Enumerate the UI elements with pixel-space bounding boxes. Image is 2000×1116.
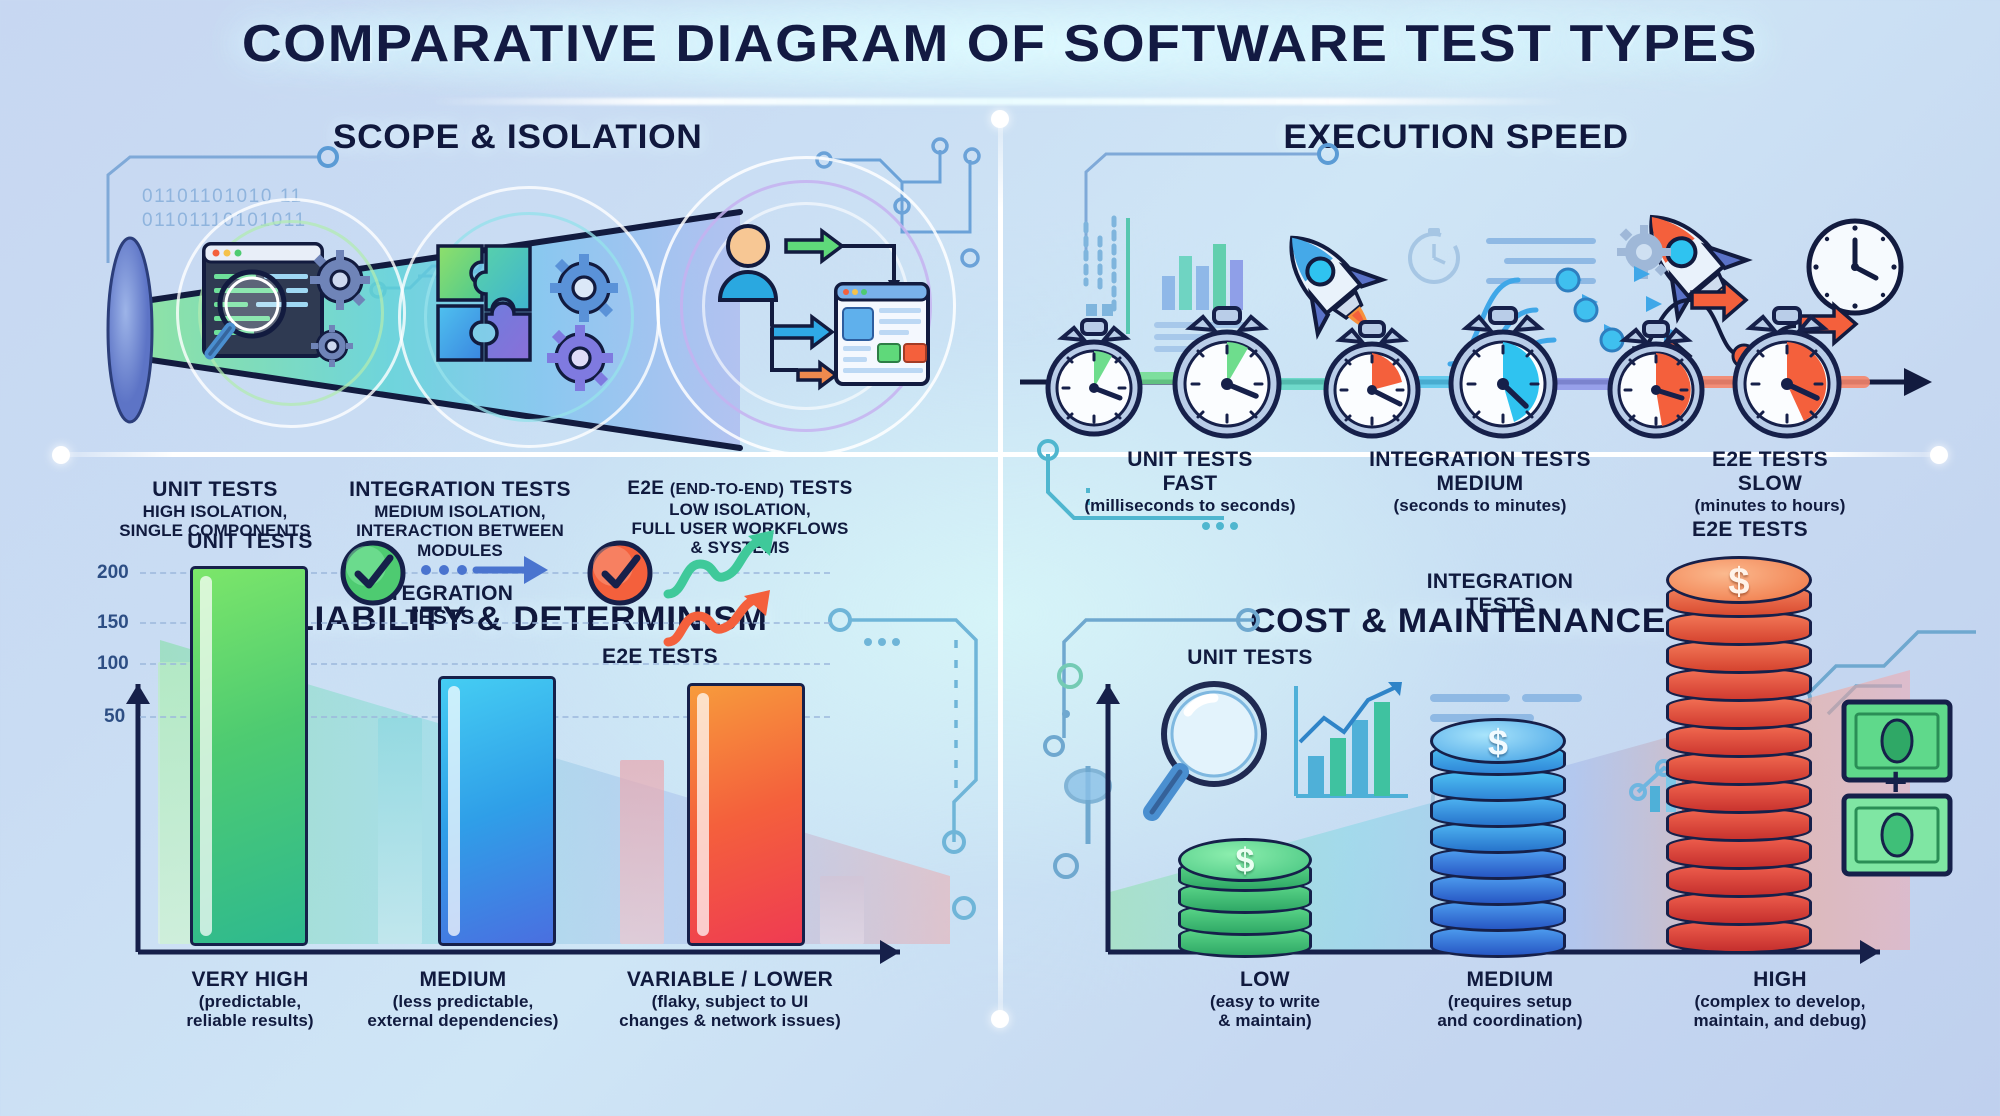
speed-unit-range: (milliseconds to seconds)	[1060, 496, 1320, 515]
cost-unit-title: UNIT TESTS	[1160, 646, 1340, 670]
magnifier-icon	[1148, 672, 1298, 832]
coin-stack-blue-icon: $	[1430, 710, 1570, 960]
check-circle-green-icon	[338, 538, 408, 608]
stopwatch-icon	[1166, 308, 1290, 442]
cost-e2e-line-1: (complex to develop,	[1640, 992, 1920, 1011]
bar-gloss	[697, 693, 709, 936]
cost-integration-line-2: and coordination)	[1390, 1011, 1630, 1030]
scope-e2e-title-tail: TESTS	[790, 478, 853, 499]
reliability-integration-line-1: (less predictable,	[338, 992, 588, 1011]
coin-stack-green-icon: $	[1178, 848, 1318, 958]
cost-unit-line-2: & maintain)	[1160, 1011, 1370, 1030]
reliability-item-unit-label: VERY HIGH (predictable, reliable results…	[140, 968, 360, 1031]
stopwatch-icon	[1318, 322, 1428, 442]
coin-dollar-symbol: $	[1430, 724, 1566, 762]
page-title: COMPARATIVE DIAGRAM OF SOFTWARE TEST TYP…	[0, 14, 2000, 74]
stopwatch-icon	[1726, 308, 1850, 442]
reliability-e2e-line-1: (flaky, subject to UI	[580, 992, 880, 1011]
cost-integration-line-1: (requires setup	[1390, 992, 1630, 1011]
divider-node-right	[1930, 446, 1948, 464]
stopwatch-icon	[1602, 322, 1712, 442]
cost-e2e-rating: HIGH	[1640, 968, 1920, 992]
speed-item-unit-label: UNIT TESTS FAST (milliseconds to seconds…	[1060, 448, 1320, 515]
cost-e2e-line-2: maintain, and debug)	[1640, 1011, 1920, 1030]
reliability-unit-line-1: (predictable,	[140, 992, 360, 1011]
coin-dollar-symbol: $	[1666, 562, 1812, 602]
reliability-integration-title-line2: TESTS	[340, 606, 540, 630]
coin-dollar-symbol: $	[1178, 842, 1312, 880]
reliability-integration-line-2: external dependencies)	[338, 1011, 588, 1030]
reliability-bar-integration	[438, 676, 556, 946]
scope-integration-line-1: MEDIUM ISOLATION,	[320, 502, 600, 521]
check-circle-red-icon	[585, 538, 655, 608]
code-window-magnifier-gears-icon	[200, 238, 380, 398]
infographic-canvas: COMPARATIVE DIAGRAM OF SOFTWARE TEST TYP…	[0, 0, 2000, 1116]
scope-unit-title: UNIT TESTS	[90, 478, 340, 502]
divider-node-left	[52, 446, 70, 464]
reliability-ytick-50: 50	[104, 706, 125, 728]
speed-integration-title: INTEGRATION TESTS	[1340, 448, 1620, 472]
scope-e2e-title-main: E2E	[627, 478, 664, 499]
speed-e2e-rating: SLOW	[1640, 472, 1900, 496]
divider-node-top	[991, 110, 1009, 128]
cost-integration-title-line1: INTEGRATION	[1400, 570, 1600, 594]
reliability-e2e-rating: VARIABLE / LOWER	[580, 968, 880, 992]
coin-stack-red-icon: $	[1666, 550, 1816, 960]
cost-bar-label-integration: INTEGRATION TESTS	[1400, 570, 1600, 618]
cost-unit-rating: LOW	[1160, 968, 1370, 992]
reliability-unit-title: UNIT TESTS	[160, 530, 340, 554]
reliability-item-integration-label: MEDIUM (less predictable, external depen…	[338, 968, 588, 1031]
reliability-unit-rating: VERY HIGH	[140, 968, 360, 992]
puzzle-pieces-gears-icon	[432, 236, 632, 406]
scope-e2e-title-paren: (END-TO-END)	[670, 481, 784, 498]
speed-item-e2e-label: E2E TESTS SLOW (minutes to hours)	[1640, 448, 1900, 515]
cost-e2e-title: E2E TESTS	[1660, 518, 1840, 542]
reliability-e2e-line-2: changes & network issues)	[580, 1011, 880, 1030]
reliability-bar-label-unit: UNIT TESTS	[160, 530, 340, 554]
cost-integration-rating: MEDIUM	[1390, 968, 1630, 992]
speed-e2e-title: E2E TESTS	[1640, 448, 1900, 472]
reliability-item-e2e-label: VARIABLE / LOWER (flaky, subject to UI c…	[580, 968, 880, 1031]
user-browser-workflow-icon	[710, 218, 930, 398]
banknote-icon	[1838, 790, 1958, 886]
speed-e2e-range: (minutes to hours)	[1640, 496, 1900, 515]
title-underline	[430, 98, 1570, 105]
page-title-text: COMPARATIVE DIAGRAM OF SOFTWARE TEST TYP…	[0, 14, 2000, 74]
reliability-bar-e2e	[687, 683, 805, 946]
scope-unit-line-1: HIGH ISOLATION,	[90, 502, 340, 521]
dotted-arrow-icon	[420, 552, 560, 592]
speed-unit-rating: FAST	[1060, 472, 1320, 496]
divider-node-bottom	[991, 1010, 1009, 1028]
scope-integration-title: INTEGRATION TESTS	[320, 478, 600, 502]
cost-item-integration-label: MEDIUM (requires setup and coordination)	[1390, 968, 1630, 1031]
stopwatch-icon	[1442, 308, 1566, 442]
cost-bar-label-e2e: E2E TESTS	[1660, 518, 1840, 542]
stopwatch-icon	[1040, 320, 1150, 440]
scope-e2e-line-1: LOW ISOLATION,	[590, 500, 890, 519]
bar-gloss	[448, 686, 460, 936]
cost-item-e2e-label: HIGH (complex to develop, maintain, and …	[1640, 968, 1920, 1031]
speed-unit-title: UNIT TESTS	[1060, 448, 1320, 472]
reliability-ytick-150: 150	[97, 612, 129, 634]
cost-item-unit-label: LOW (easy to write & maintain)	[1160, 968, 1370, 1031]
cost-bar-label-unit: UNIT TESTS	[1160, 646, 1340, 670]
scope-e2e-title: E2E (END-TO-END) TESTS	[590, 478, 890, 500]
cost-unit-line-1: (easy to write	[1160, 992, 1370, 1011]
speed-integration-range: (seconds to minutes)	[1340, 496, 1620, 515]
speed-integration-rating: MEDIUM	[1340, 472, 1620, 496]
reliability-unit-line-2: reliable results)	[140, 1011, 360, 1030]
reliability-bar-unit	[190, 566, 308, 946]
squiggly-up-arrow-red-icon	[660, 588, 790, 660]
reliability-ytick-100: 100	[97, 653, 129, 675]
bar-gloss	[200, 576, 212, 936]
bar-chart-icon	[1290, 678, 1420, 818]
reliability-ytick-200: 200	[97, 562, 129, 584]
cost-integration-title-line2: TESTS	[1400, 594, 1600, 618]
speed-item-integration-label: INTEGRATION TESTS MEDIUM (seconds to min…	[1340, 448, 1620, 515]
reliability-integration-rating: MEDIUM	[338, 968, 588, 992]
